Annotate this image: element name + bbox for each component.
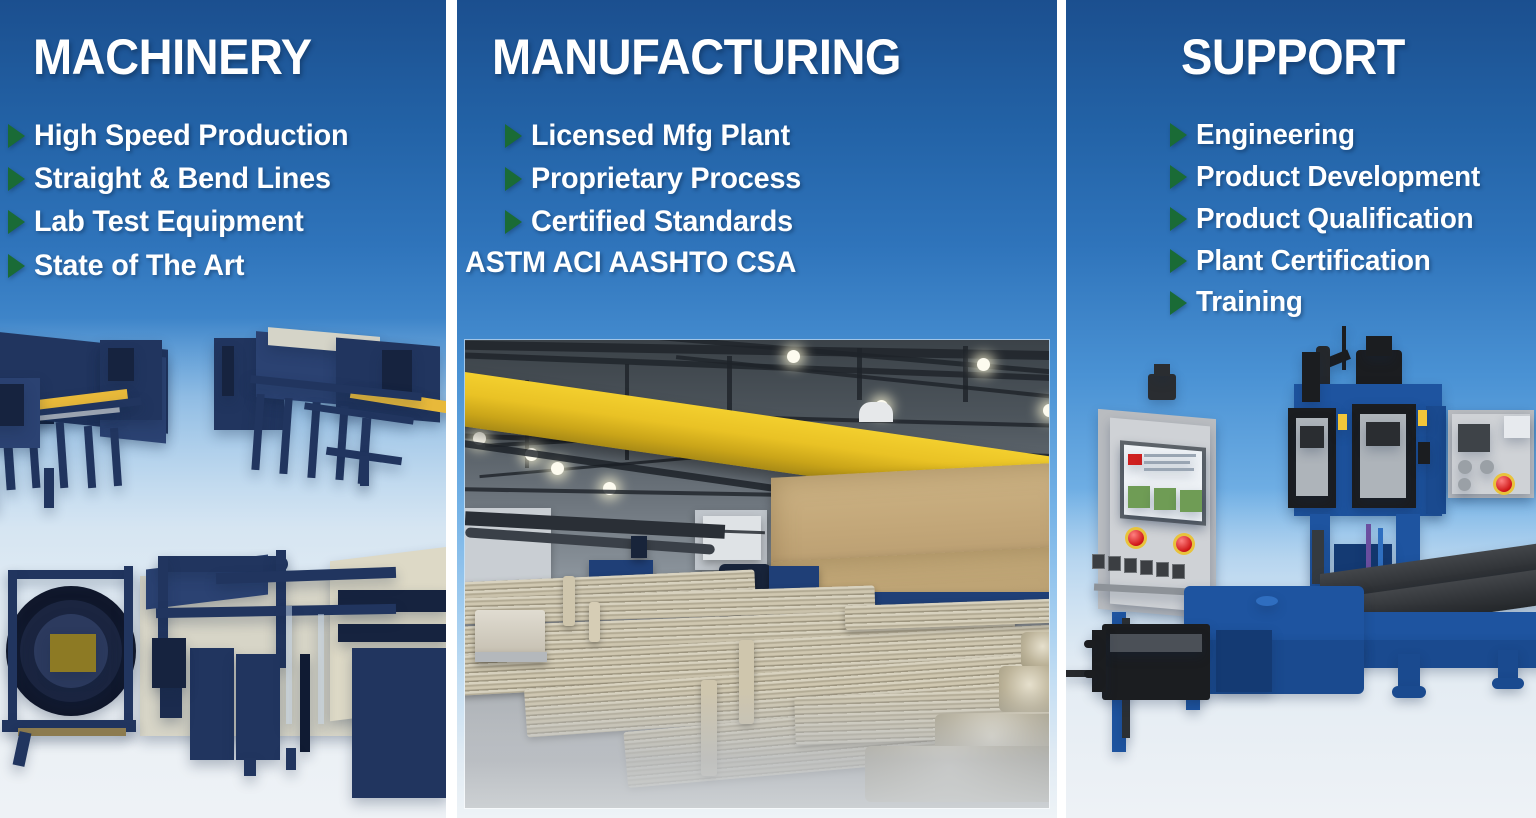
support-photo bbox=[1066, 318, 1536, 818]
manufacturing-photo bbox=[465, 340, 1049, 808]
list-item-standards: ASTM ACI AASHTO CSA bbox=[505, 246, 1057, 280]
list-item: Lab Test Equipment bbox=[8, 202, 446, 242]
bullet-label: Licensed Mfg Plant bbox=[531, 116, 790, 156]
list-item: Plant Certification bbox=[1170, 242, 1536, 281]
bullet-label: Product Qualification bbox=[1196, 200, 1473, 239]
list-item: Engineering bbox=[1170, 116, 1536, 155]
arrow-right-icon bbox=[8, 167, 25, 191]
bullet-label: State of The Art bbox=[34, 246, 244, 286]
ceiling-light-icon bbox=[551, 462, 564, 475]
panel-title-support: SUPPORT bbox=[1181, 28, 1515, 86]
list-item: Licensed Mfg Plant bbox=[505, 116, 1057, 156]
standards-label: ASTM ACI AASHTO CSA bbox=[465, 246, 796, 280]
list-item: Straight & Bend Lines bbox=[8, 159, 446, 199]
arrow-right-icon bbox=[8, 254, 25, 278]
panel-title-manufacturing: MANUFACTURING bbox=[492, 28, 1023, 86]
arrow-right-icon bbox=[8, 124, 25, 148]
emergency-stop-icon bbox=[1176, 536, 1192, 552]
three-column-capability-board: MACHINERY High Speed Production Straight… bbox=[0, 0, 1536, 818]
emergency-stop-icon bbox=[1496, 476, 1512, 492]
list-item: Proprietary Process bbox=[505, 159, 1057, 199]
list-item: Training bbox=[1170, 283, 1536, 322]
panel-button bbox=[1140, 560, 1153, 575]
panel-divider bbox=[1057, 0, 1066, 818]
bullet-label: Plant Certification bbox=[1196, 242, 1431, 281]
bullet-label: Proprietary Process bbox=[531, 159, 801, 199]
bullet-label: Training bbox=[1196, 283, 1303, 322]
panel-machinery: MACHINERY High Speed Production Straight… bbox=[0, 0, 446, 818]
bullet-label: Product Development bbox=[1196, 158, 1480, 197]
emergency-stop-icon bbox=[1128, 530, 1144, 546]
ceiling-light-icon bbox=[1043, 404, 1049, 417]
ceiling-light-icon bbox=[787, 350, 800, 363]
panel-support: SUPPORT Engineering Product Development … bbox=[1066, 0, 1536, 818]
panel-title-machinery: MACHINERY bbox=[33, 28, 421, 86]
arrow-right-icon bbox=[1170, 291, 1187, 315]
bullet-label: High Speed Production bbox=[34, 116, 348, 156]
list-item: Product Development bbox=[1170, 158, 1536, 197]
bullet-list-machinery: High Speed Production Straight & Bend Li… bbox=[8, 116, 446, 286]
arrow-right-icon bbox=[1170, 123, 1187, 147]
bullet-label: Engineering bbox=[1196, 116, 1355, 155]
arrow-right-icon bbox=[505, 124, 522, 148]
panel-button bbox=[1092, 554, 1105, 569]
arrow-right-icon bbox=[1170, 249, 1187, 273]
bullet-list-support: Engineering Product Development Product … bbox=[1170, 116, 1536, 322]
list-item: Product Qualification bbox=[1170, 200, 1536, 239]
bullet-label: Straight & Bend Lines bbox=[34, 159, 331, 199]
arrow-right-icon bbox=[8, 210, 25, 234]
bullet-label: Certified Standards bbox=[531, 202, 793, 242]
list-item: Certified Standards bbox=[505, 202, 1057, 242]
panel-button bbox=[1156, 562, 1169, 577]
ceiling-light-icon bbox=[977, 358, 990, 371]
arrow-right-icon bbox=[505, 210, 522, 234]
panel-manufacturing: MANUFACTURING Licensed Mfg Plant Proprie… bbox=[457, 0, 1057, 818]
arrow-right-icon bbox=[1170, 207, 1187, 231]
arrow-right-icon bbox=[1170, 165, 1187, 189]
arrow-right-icon bbox=[505, 167, 522, 191]
machinery-photo bbox=[0, 318, 446, 818]
bullet-label: Lab Test Equipment bbox=[34, 202, 304, 242]
panel-button bbox=[1124, 558, 1137, 573]
panel-divider bbox=[446, 0, 457, 818]
panel-button bbox=[1172, 564, 1185, 579]
bullet-list-manufacturing: Licensed Mfg Plant Proprietary Process C… bbox=[505, 116, 1057, 280]
panel-button bbox=[1108, 556, 1121, 571]
list-item: State of The Art bbox=[8, 246, 446, 286]
list-item: High Speed Production bbox=[8, 116, 446, 156]
